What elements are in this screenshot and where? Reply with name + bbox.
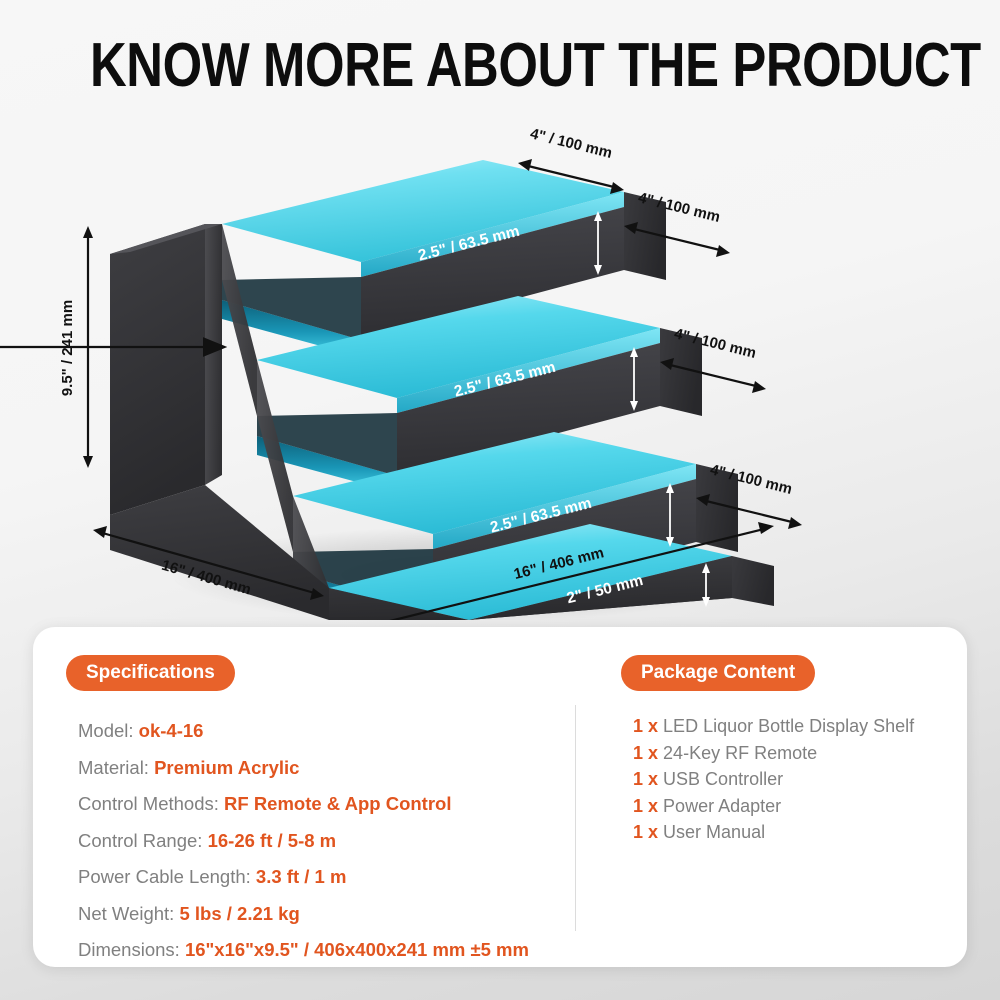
spec-value: RF Remote & App Control [224, 793, 451, 814]
spec-row: Dimensions: 16"x16"x9.5" / 406x400x241 m… [66, 932, 576, 969]
package-content-section: Package Content 1 x LED Liquor Bottle Di… [621, 655, 951, 846]
package-item-name: 24-Key RF Remote [663, 743, 817, 763]
spec-row: Power Cable Length: 3.3 ft / 1 m [66, 859, 576, 896]
list-item: 1 x Power Adapter [633, 793, 951, 820]
product-infographic-page: KNOW MORE ABOUT THE PRODUCT [0, 0, 1000, 1000]
spec-value: 16-26 ft / 5-8 m [208, 830, 337, 851]
spec-row: Control Range: 16-26 ft / 5-8 m [66, 823, 576, 860]
package-item-name: User Manual [663, 822, 765, 842]
spec-row: Model: ok-4-16 [66, 713, 576, 750]
package-content-list: 1 x LED Liquor Bottle Display Shelf 1 x … [621, 713, 951, 846]
list-item: 1 x USB Controller [633, 766, 951, 793]
info-card: Specifications Model: ok-4-16 Material: … [33, 627, 967, 967]
spec-label: Model: [78, 720, 134, 741]
shelf-tier-4-right-side [732, 556, 774, 606]
package-item-name: Power Adapter [663, 796, 781, 816]
package-item-name: USB Controller [663, 769, 783, 789]
package-content-badge: Package Content [621, 655, 815, 691]
specifications-section: Specifications Model: ok-4-16 Material: … [66, 655, 576, 969]
spec-label: Dimensions: [78, 939, 180, 960]
spec-value: 5 lbs / 2.21 kg [179, 903, 299, 924]
specifications-badge: Specifications [66, 655, 235, 691]
spec-label: Power Cable Length: [78, 866, 251, 887]
spec-label: Net Weight: [78, 903, 174, 924]
shelf-left-outer-wall [110, 224, 205, 515]
specifications-list: Model: ok-4-16 Material: Premium Acrylic… [66, 713, 576, 969]
spec-label: Material: [78, 757, 149, 778]
spec-row: Net Weight: 5 lbs / 2.21 kg [66, 896, 576, 933]
list-item: 1 x 24-Key RF Remote [633, 740, 951, 767]
package-quantity: 1 x [633, 822, 658, 842]
spec-value: ok-4-16 [139, 720, 204, 741]
spec-row: Control Methods: RF Remote & App Control [66, 786, 576, 823]
package-item-name: LED Liquor Bottle Display Shelf [663, 716, 914, 736]
product-dimension-diagram: 9.5" / 241 mm 16" / 400 mm 16" / 406 mm [0, 120, 1000, 620]
spec-label: Control Range: [78, 830, 202, 851]
package-quantity: 1 x [633, 716, 658, 736]
dimension-label-step-depth-1: 4" / 100 mm [528, 125, 613, 162]
spec-row: Material: Premium Acrylic [66, 750, 576, 787]
dimension-label-height: 9.5" / 241 mm [59, 300, 76, 396]
package-quantity: 1 x [633, 769, 658, 789]
package-quantity: 1 x [633, 796, 658, 816]
column-divider [575, 705, 576, 931]
shelf-left-side-panel [205, 224, 222, 485]
page-title: KNOW MORE ABOUT THE PRODUCT [90, 34, 910, 98]
list-item: 1 x LED Liquor Bottle Display Shelf [633, 713, 951, 740]
spec-label: Control Methods: [78, 793, 219, 814]
spec-value: 3.3 ft / 1 m [256, 866, 346, 887]
list-item: 1 x User Manual [633, 819, 951, 846]
spec-value: 16"x16"x9.5" / 406x400x241 mm ±5 mm [185, 939, 529, 960]
package-quantity: 1 x [633, 743, 658, 763]
spec-value: Premium Acrylic [154, 757, 299, 778]
